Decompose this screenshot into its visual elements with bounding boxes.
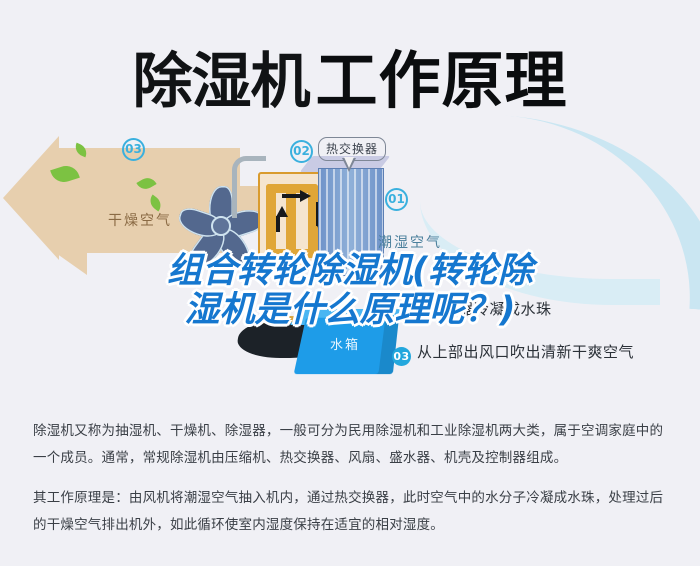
body-paragraph-2: 其工作原理是：由风机将潮湿空气抽入机内，通过热交换器，此时空气中的水分子冷凝成水… bbox=[33, 485, 669, 539]
overlay-headline-line2: 湿机是什么原理呢？) bbox=[0, 291, 700, 330]
page-title: 除湿机工作原理 bbox=[0, 30, 700, 120]
badge-01: 01 bbox=[385, 188, 408, 211]
step-badge-03: 03 bbox=[392, 347, 411, 366]
page-root: 除湿机工作原理 干燥空气 bbox=[0, 0, 700, 566]
overlay-headline-line1: 组合转轮除湿机(转轮除 bbox=[0, 252, 700, 291]
overlay-headline: 组合转轮除湿机(转轮除 湿机是什么原理呢？) bbox=[0, 252, 700, 330]
flow-arrow-up-icon bbox=[276, 206, 288, 217]
step-caption-3: 03从上部出风口吹出清新干爽空气 bbox=[392, 341, 634, 366]
water-tank-label: 水箱 bbox=[330, 334, 360, 353]
page-title-part2: 工作原理 bbox=[315, 48, 567, 116]
flow-arrow-up-shaft bbox=[276, 216, 280, 232]
dry-air-label: 干燥空气 bbox=[108, 210, 172, 230]
badge-03: 03 bbox=[122, 138, 145, 161]
badge-02: 02 bbox=[290, 140, 313, 163]
copper-coil bbox=[266, 184, 276, 258]
flow-arrow-right-shaft bbox=[282, 194, 302, 198]
callout-pointer-icon bbox=[342, 158, 356, 172]
body-paragraph-1: 除湿机又称为抽湿机、干燥机、除湿器，一般可分为民用除湿机和工业除湿机两大类，属于… bbox=[33, 418, 669, 472]
fan-hub bbox=[211, 216, 231, 236]
flow-arrow-right-icon bbox=[300, 190, 311, 202]
humid-air-label: 潮湿空气 bbox=[378, 232, 442, 252]
step-caption-3-text: 从上部出风口吹出清新干爽空气 bbox=[417, 343, 634, 361]
article-body: 除湿机又称为抽湿机、干燥机、除湿器，一般可分为民用除湿机和工业除湿机两大类，属于… bbox=[33, 418, 669, 539]
page-title-part1: 除湿机 bbox=[132, 47, 309, 117]
